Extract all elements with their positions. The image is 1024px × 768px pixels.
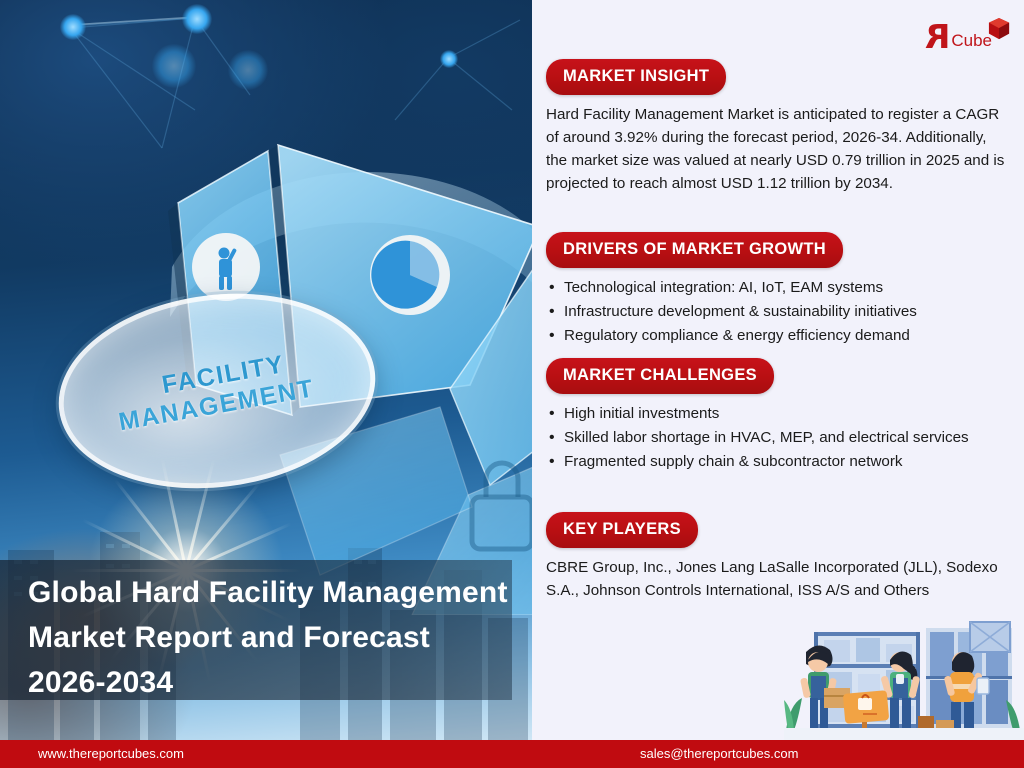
list-item: Skilled labor shortage in HVAC, MEP, and…: [546, 427, 998, 450]
list-item: Infrastructure development & sustainabil…: [546, 301, 998, 324]
section-drivers-of-market-growth: DRIVERS OF MARKET GROWTH Technological i…: [546, 232, 1016, 348]
network-node: [60, 14, 86, 40]
logo-letter-icon: R: [925, 22, 950, 52]
infographic-page: FACILITY MANAGEMENT Global Hard Facility…: [0, 0, 1024, 768]
box: [918, 716, 934, 730]
footer-email[interactable]: sales@thereportcubes.com: [640, 746, 798, 761]
hero-graphic: FACILITY MANAGEMENT Global Hard Facility…: [0, 0, 532, 740]
section-paragraph: CBRE Group, Inc., Jones Lang LaSalle Inc…: [546, 556, 1006, 602]
logo-word: Cube: [951, 32, 992, 52]
list-item: Regulatory compliance & energy efficienc…: [546, 325, 998, 348]
section-heading: KEY PLAYERS: [546, 512, 698, 548]
title-overlay: Global Hard Facility Management Market R…: [0, 560, 512, 700]
footer-website[interactable]: www.thereportcubes.com: [38, 746, 184, 761]
list-item: High initial investments: [546, 403, 998, 426]
brand-logo[interactable]: R Cube: [925, 8, 1010, 52]
section-heading: MARKET INSIGHT: [546, 59, 726, 95]
warehouse-workers-illustration: [784, 618, 1024, 740]
plant-left: [784, 698, 802, 730]
drivers-list: Technological integration: AI, IoT, EAM …: [546, 277, 1016, 347]
cube-icon: [988, 16, 1010, 40]
footer-bar: www.thereportcubes.com sales@thereportcu…: [0, 740, 1024, 768]
section-paragraph: Hard Facility Management Market is antic…: [546, 103, 1006, 195]
page-title: Global Hard Facility Management Market R…: [28, 570, 510, 705]
content-panel: R Cube MARKET INSIGHT Hard Facility Mana…: [532, 0, 1024, 740]
challenges-list: High initial investments Skilled labor s…: [546, 403, 1016, 473]
section-market-challenges: MARKET CHALLENGES High initial investmen…: [546, 358, 1016, 474]
pie-chart-icon: [370, 235, 450, 315]
section-market-insight: MARKET INSIGHT Hard Facility Management …: [546, 59, 1016, 195]
worker-presenting-icon: [192, 233, 260, 301]
list-item: Technological integration: AI, IoT, EAM …: [546, 277, 998, 300]
network-node: [182, 4, 212, 34]
section-heading: MARKET CHALLENGES: [546, 358, 774, 394]
section-heading: DRIVERS OF MARKET GROWTH: [546, 232, 843, 268]
section-key-players: KEY PLAYERS CBRE Group, Inc., Jones Lang…: [546, 512, 1016, 602]
list-item: Fragmented supply chain & subcontractor …: [546, 451, 998, 474]
